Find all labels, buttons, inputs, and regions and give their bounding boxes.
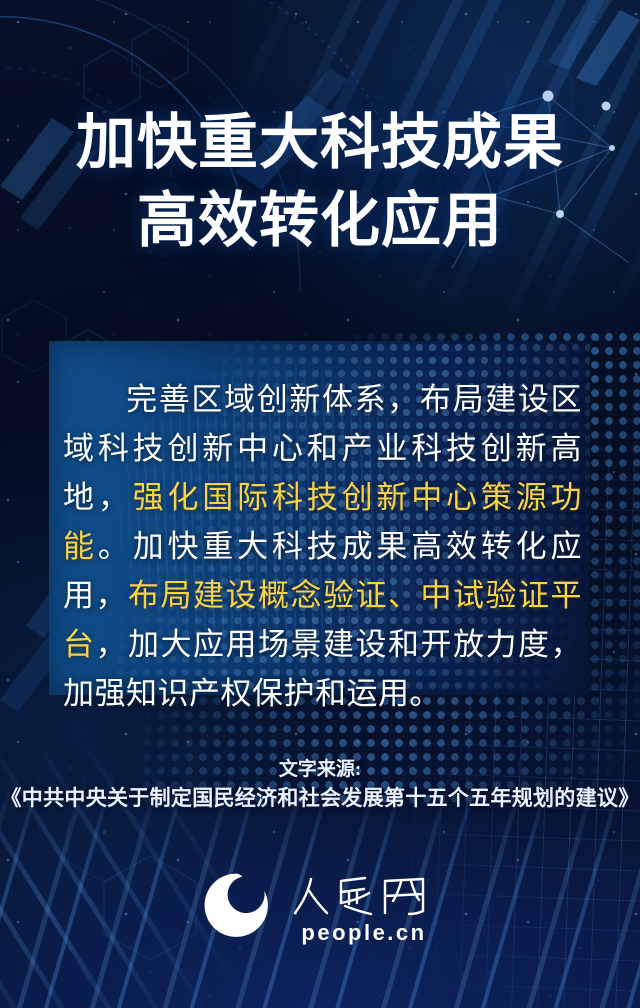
body-text-run: ，加大应用场景建设和开放力度，加强知识产权保护和运用。 xyxy=(63,627,582,711)
title-line-1: 加快重大科技成果 xyxy=(0,104,640,182)
renminwang-wordmark-icon xyxy=(289,873,439,919)
source-document-title: 《中共中央关于制定国民经济和社会发展第十五个五年规划的建议》 xyxy=(0,783,640,813)
poster: 加快重大科技成果 高效转化应用 完善区域创新体系，布局建设区域科技创新中心和产业… xyxy=(0,0,640,1008)
site-logo: people.cn xyxy=(0,872,640,946)
logo-domain: people.cn xyxy=(301,920,426,946)
source-attribution: 文字来源: 《中共中央关于制定国民经济和社会发展第十五个五年规划的建议》 xyxy=(0,757,640,813)
poster-title: 加快重大科技成果 高效转化应用 xyxy=(0,104,640,260)
body-paragraph: 完善区域创新体系，布局建设区域科技创新中心和产业科技创新高地，强化国际科技创新中… xyxy=(49,341,590,718)
source-label: 文字来源: xyxy=(0,757,640,783)
content-card: 完善区域创新体系，布局建设区域科技创新中心和产业科技创新高地，强化国际科技创新中… xyxy=(49,341,590,695)
logo-text: people.cn xyxy=(289,873,439,946)
title-line-2: 高效转化应用 xyxy=(0,182,640,260)
people-globe-icon xyxy=(201,872,275,946)
